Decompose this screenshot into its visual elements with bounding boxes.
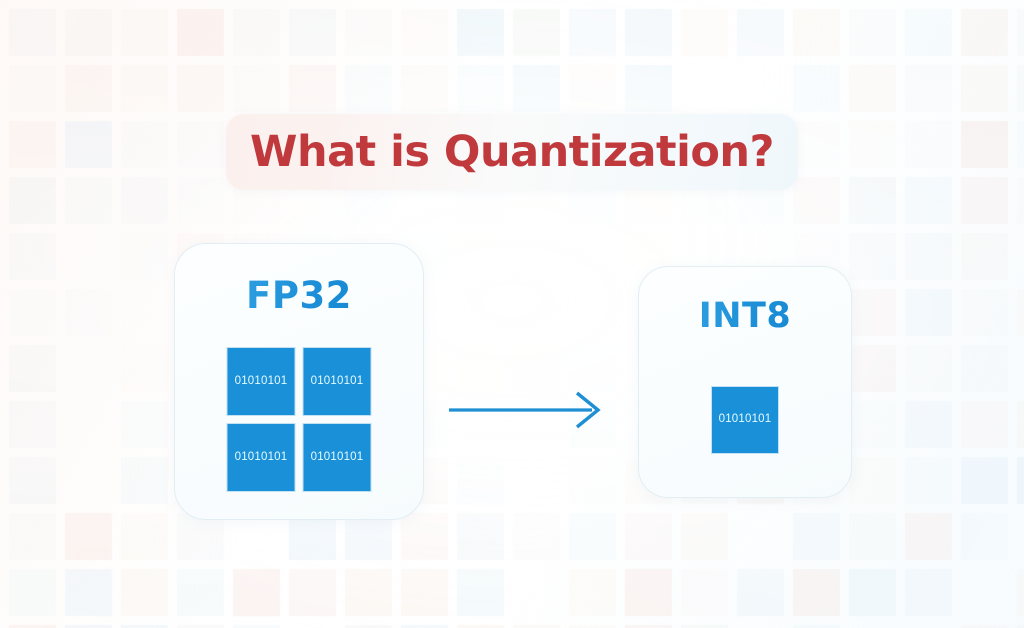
bit-square-value: 01010101 [311, 376, 364, 388]
page-title: What is Quantization? [250, 131, 774, 174]
fp32-card: FP32 01010101 01010101 01010101 01010101 [174, 243, 424, 520]
int8-bit-grid: 01010101 [712, 387, 778, 453]
fp32-bit-grid: 01010101 01010101 01010101 01010101 [228, 348, 371, 491]
page-title-pill: What is Quantization? [226, 114, 798, 190]
bit-square: 01010101 [304, 424, 371, 491]
bit-square-value: 01010101 [719, 414, 772, 426]
bit-square-value: 01010101 [235, 376, 288, 388]
int8-card-label: INT8 [639, 299, 851, 334]
bit-square: 01010101 [304, 348, 371, 415]
bit-square-value: 01010101 [235, 452, 288, 464]
int8-card: INT8 01010101 [638, 266, 852, 498]
bit-square: 01010101 [712, 387, 778, 453]
bit-square-value: 01010101 [311, 452, 364, 464]
arrow-right-icon [446, 388, 610, 432]
bit-square: 01010101 [228, 424, 295, 491]
diagram-stage: What is Quantization? FP32 01010101 0101… [0, 0, 1024, 628]
fp32-card-label: FP32 [175, 277, 423, 314]
bit-square: 01010101 [228, 348, 295, 415]
